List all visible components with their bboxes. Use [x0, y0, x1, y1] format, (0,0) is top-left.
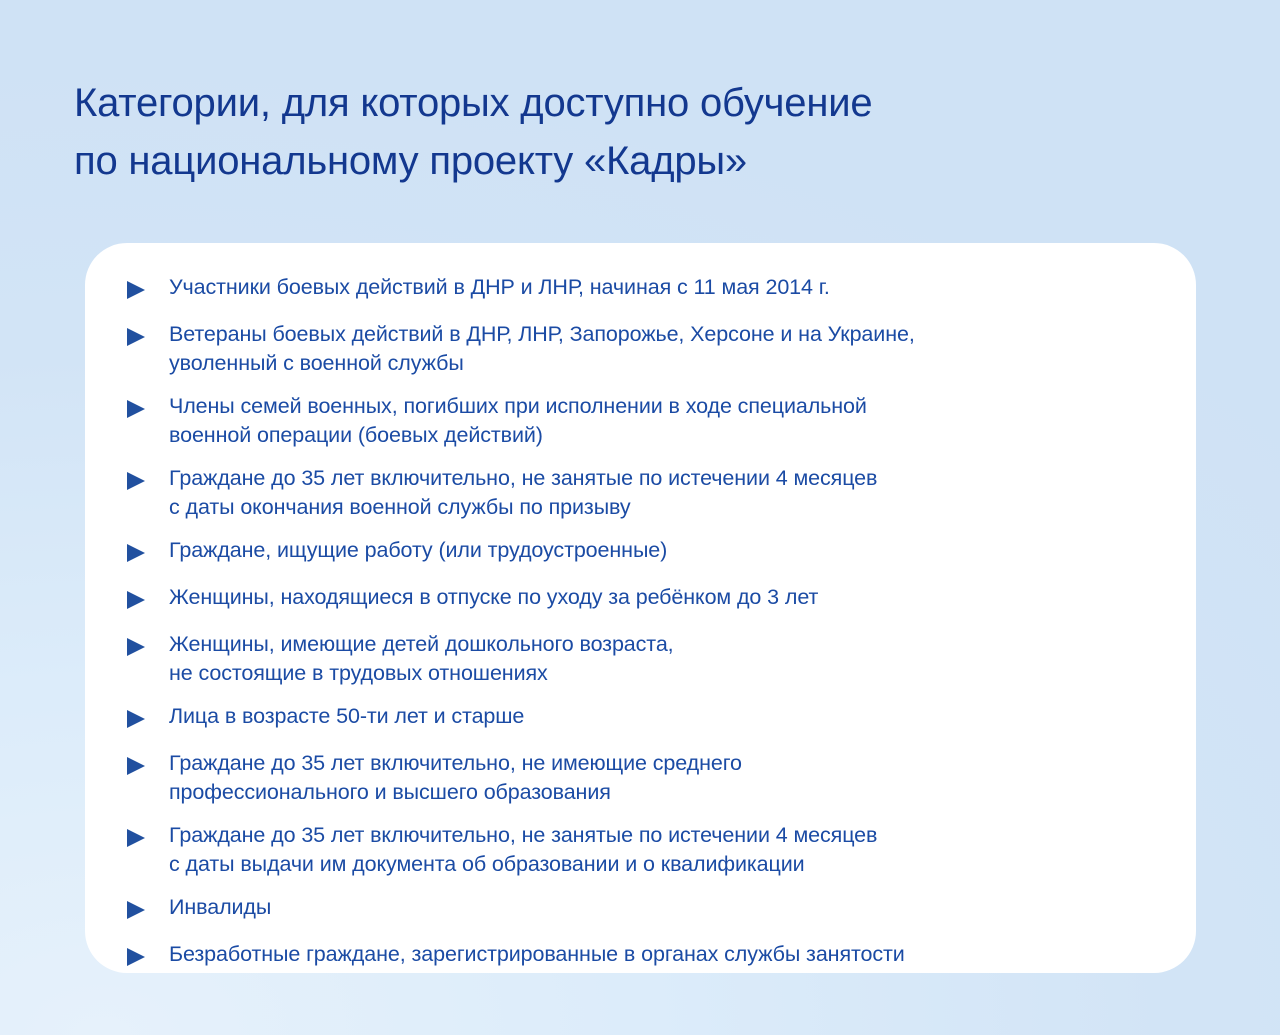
list-item: Граждане, ищущие работу (или трудоустрое… [125, 536, 1150, 565]
list-item: Безработные граждане, зарегистрированные… [125, 940, 1150, 969]
triangle-right-icon [125, 630, 147, 657]
list-item: Инвалиды [125, 893, 1150, 922]
triangle-right-icon [125, 464, 147, 491]
triangle-right-icon [125, 583, 147, 610]
list-item-label: Члены семей военных, погибших при исполн… [169, 392, 1150, 450]
list-item: Лица в возрасте 50-ти лет и старше [125, 702, 1150, 731]
triangle-right-icon [125, 273, 147, 300]
categories-list: Участники боевых действий в ДНР и ЛНР, н… [125, 273, 1150, 969]
categories-card: Участники боевых действий в ДНР и ЛНР, н… [85, 243, 1196, 973]
triangle-right-icon [125, 940, 147, 967]
triangle-right-icon [125, 893, 147, 920]
triangle-right-icon [125, 536, 147, 563]
triangle-right-icon [125, 821, 147, 848]
list-item-label: Инвалиды [169, 893, 1150, 922]
list-item-label: Граждане до 35 лет включительно, не имею… [169, 749, 1150, 807]
list-item-label: Лица в возрасте 50-ти лет и старше [169, 702, 1150, 731]
list-item-label: Женщины, находящиеся в отпуске по уходу … [169, 583, 1150, 612]
poster-root: Категории, для которых доступно обучение… [0, 0, 1280, 1035]
triangle-right-icon [125, 320, 147, 347]
list-item-label: Безработные граждане, зарегистрированные… [169, 940, 1150, 969]
list-item: Женщины, находящиеся в отпуске по уходу … [125, 583, 1150, 612]
page-title: Категории, для которых доступно обучение… [74, 74, 1134, 190]
triangle-right-icon [125, 749, 147, 776]
list-item: Участники боевых действий в ДНР и ЛНР, н… [125, 273, 1150, 302]
list-item: Граждане до 35 лет включительно, не заня… [125, 821, 1150, 879]
list-item: Члены семей военных, погибших при исполн… [125, 392, 1150, 450]
list-item-label: Граждане до 35 лет включительно, не заня… [169, 821, 1150, 879]
list-item-label: Ветераны боевых действий в ДНР, ЛНР, Зап… [169, 320, 1150, 378]
list-item-label: Участники боевых действий в ДНР и ЛНР, н… [169, 273, 1150, 302]
triangle-right-icon [125, 392, 147, 419]
list-item: Граждане до 35 лет включительно, не заня… [125, 464, 1150, 522]
list-item-label: Граждане до 35 лет включительно, не заня… [169, 464, 1150, 522]
list-item: Женщины, имеющие детей дошкольного возра… [125, 630, 1150, 688]
list-item-label: Женщины, имеющие детей дошкольного возра… [169, 630, 1150, 688]
list-item: Граждане до 35 лет включительно, не имею… [125, 749, 1150, 807]
triangle-right-icon [125, 702, 147, 729]
list-item: Ветераны боевых действий в ДНР, ЛНР, Зап… [125, 320, 1150, 378]
list-item-label: Граждане, ищущие работу (или трудоустрое… [169, 536, 1150, 565]
